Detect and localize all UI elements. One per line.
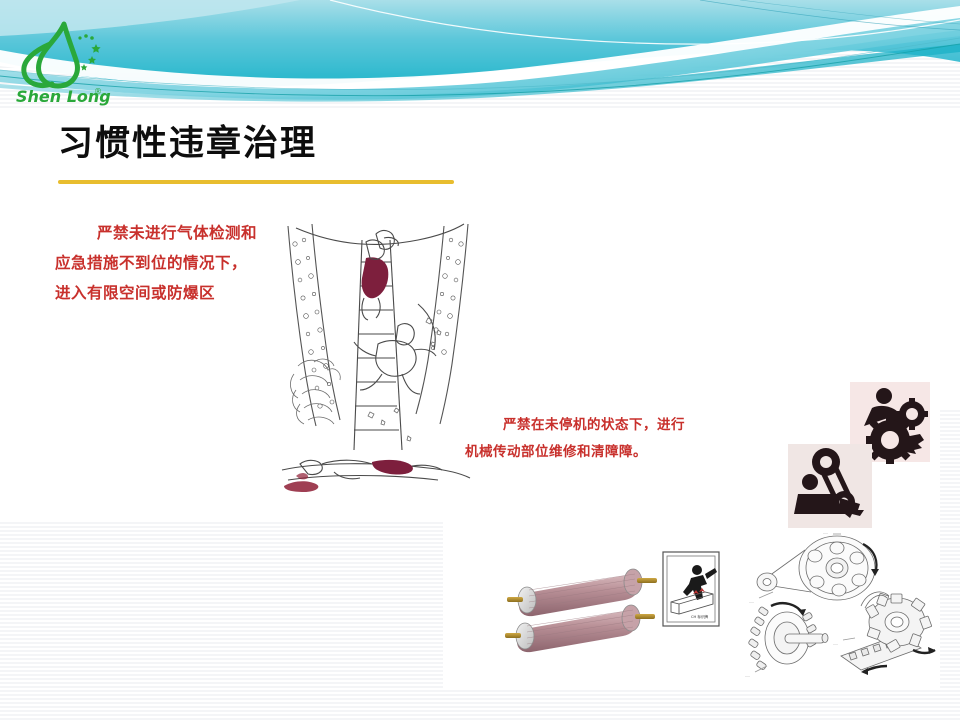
svg-text:·····: ·····: [823, 532, 828, 536]
gear-set-drawing: ·····: [833, 592, 935, 675]
warning-machinery: 严禁在未停机的状态下，进行 机械传动部位维修和清障障。: [465, 412, 715, 466]
warning-confined-space: 严禁未进行气体检测和 应急措施不到位的情况下， 进入有限空间或防爆区: [55, 218, 300, 308]
belt-pulley-drawing: ····· ·····: [749, 532, 879, 605]
decorative-wave-banner: [0, 0, 960, 108]
illustration-machinery-pictograms: [788, 382, 948, 530]
page-title: 习惯性违章治理: [58, 122, 478, 166]
warning-line: 机械传动部位维修和清障障。: [465, 439, 715, 466]
sign-label: CH 标识牌: [691, 614, 709, 619]
warning-line: 应急措施不到位的情况下，: [55, 248, 300, 278]
belt-drive-hazard-pictogram: [788, 444, 872, 528]
logo-trademark: ®: [94, 87, 102, 96]
svg-text:·····: ·····: [833, 643, 838, 647]
slide-root: Shen Long ® 习惯性违章治理 严禁未进行气体检测和 应急措施不到位的情…: [0, 0, 960, 720]
warning-line: 进入有限空间或防爆区: [55, 278, 300, 308]
svg-text:·····: ·····: [749, 601, 754, 605]
illustration-rollers-and-sign: CH 标识牌: [505, 548, 720, 666]
shen-long-logo: Shen Long ®: [8, 14, 118, 106]
page-title-block: 习惯性违章治理: [58, 122, 478, 184]
warning-line: 严禁在未停机的状态下，进行: [465, 412, 715, 439]
content-card-right: [443, 108, 960, 408]
conveyor-warning-sign: CH 标识牌: [663, 552, 719, 626]
title-underline-rule: [58, 180, 454, 184]
warning-line: 严禁未进行气体检测和: [55, 218, 300, 248]
illustration-drive-components: ····· ·····: [745, 530, 950, 680]
chain-sprocket-drawing: ·····: [745, 603, 828, 679]
svg-text:·····: ·····: [745, 675, 750, 679]
illustration-confined-space-fall: [278, 214, 478, 494]
